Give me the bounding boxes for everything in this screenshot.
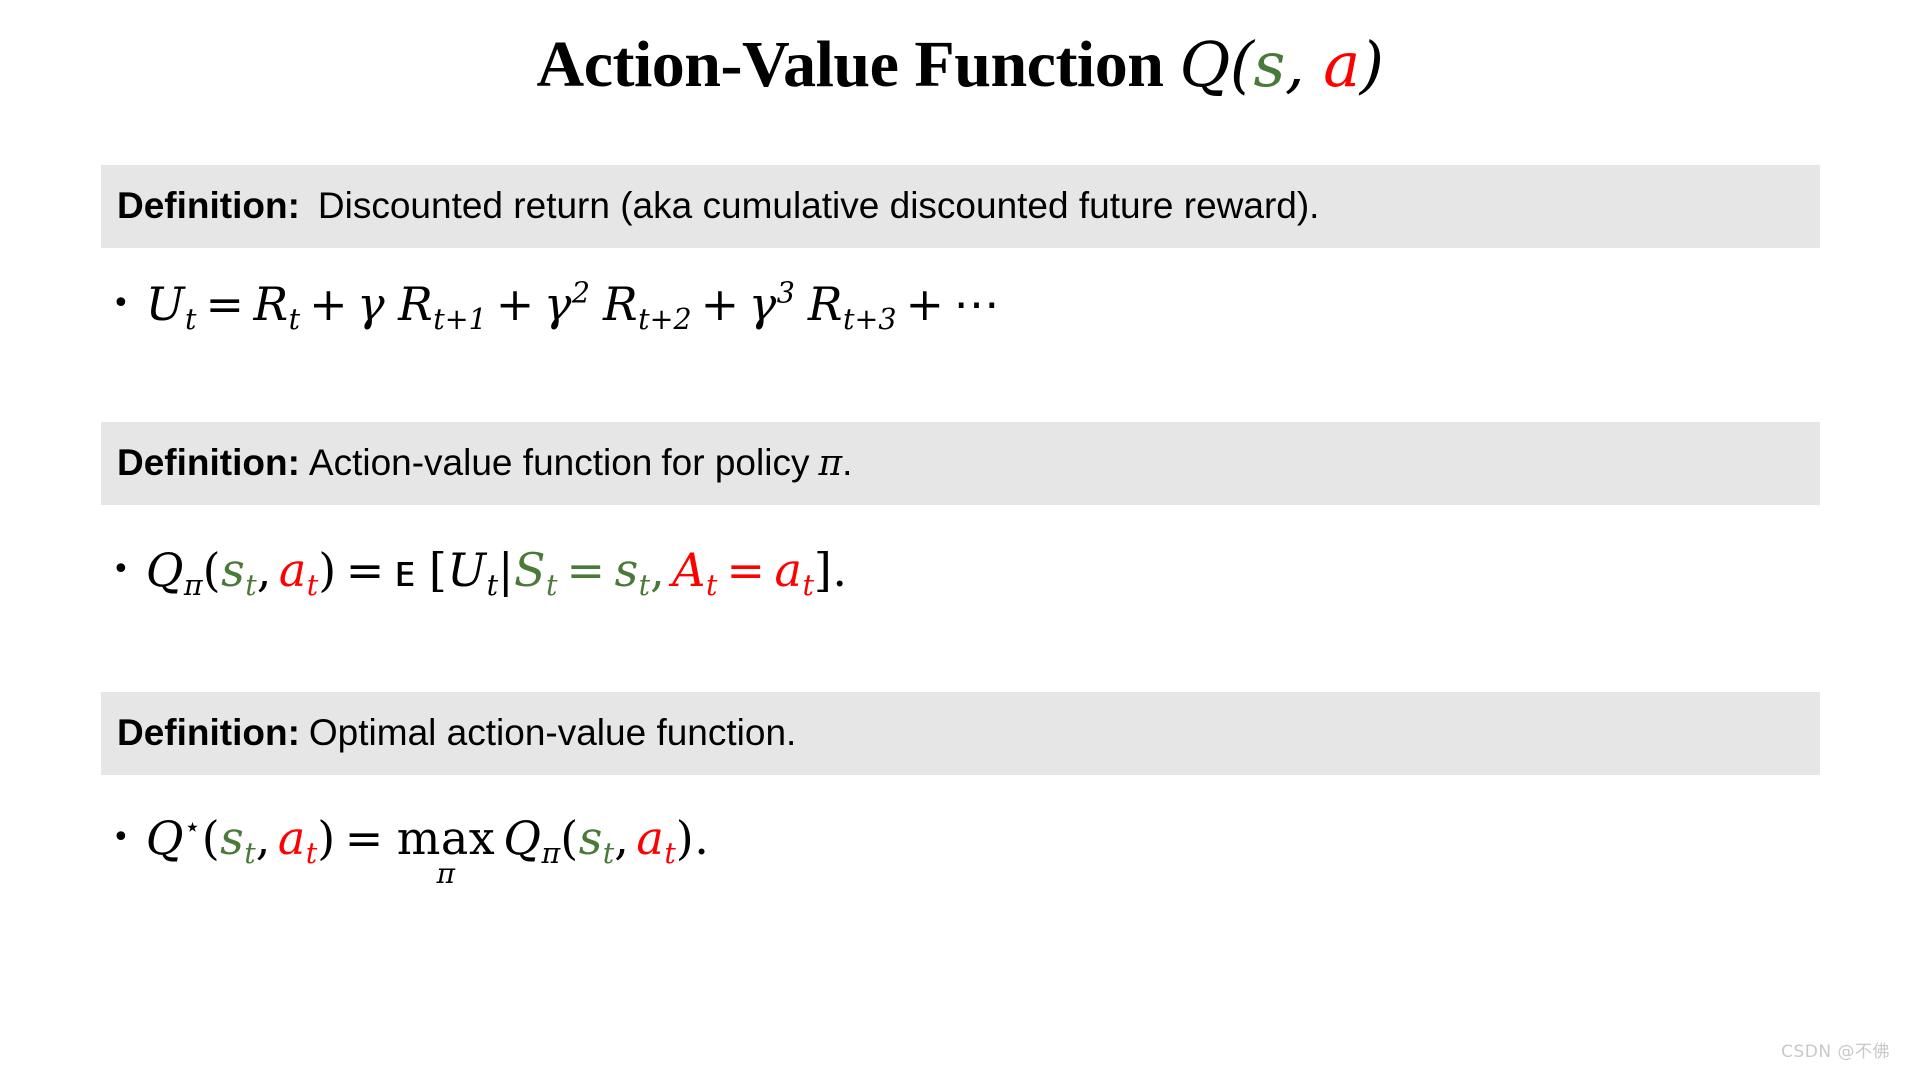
- period: .: [832, 543, 847, 597]
- ellipsis-icon: ⋯: [954, 277, 1001, 331]
- page-title-text: Action-Value Function: [537, 28, 1164, 101]
- symbol-Q: Q: [503, 811, 541, 865]
- symbol-gamma: γ: [357, 277, 385, 331]
- paren-close: ): [317, 811, 335, 865]
- symbol-U: U: [146, 277, 185, 331]
- symbol-action: a: [279, 543, 307, 597]
- operator-equals: =: [717, 543, 774, 597]
- symbol-state: s: [220, 811, 244, 865]
- bracket-close: ]: [814, 543, 832, 597]
- symbol-R: R: [254, 277, 289, 331]
- formula-optimal-action-value-function: • Q⋆(st,at)=maxπQπ(st,at).: [112, 812, 709, 888]
- bullet-icon: •: [112, 278, 130, 330]
- formula-action-value-function: • Qπ(st,at)=ᴇ[Ut|St=st,At=at].: [112, 544, 848, 598]
- operator-plus: +: [692, 277, 749, 331]
- symbol-gamma: γ: [749, 277, 777, 331]
- operator-plus: +: [896, 277, 953, 331]
- symbol-U: U: [447, 543, 486, 597]
- formula-action-value-function-body: Qπ(st,at)=ᴇ[Ut|St=st,At=at].: [146, 544, 848, 598]
- period: .: [694, 811, 709, 865]
- definition-symbol-pi: π: [818, 444, 842, 484]
- subscript-t-plus-1: t+1: [433, 303, 487, 336]
- title-paren-open: (: [1230, 28, 1254, 101]
- title-symbol-state: s: [1254, 28, 1285, 101]
- definition-emphasis: Optimal action-value function: [309, 713, 786, 754]
- definition-text: for policy: [661, 443, 809, 484]
- symbol-state: s: [579, 811, 603, 865]
- subscript-t-plus-3: t+3: [843, 303, 897, 336]
- symbol-expectation: ᴇ: [394, 546, 416, 597]
- subscript-t: t: [639, 569, 650, 602]
- definition-period: .: [842, 443, 852, 484]
- paren-close: ): [318, 543, 336, 597]
- symbol-action-random-var: A: [672, 543, 706, 597]
- symbol-Q: Q: [146, 811, 184, 865]
- operator-equals: =: [196, 277, 253, 331]
- operator-plus: +: [487, 277, 544, 331]
- definition-banner-optimal-action-value-function: Definition: Optimal action-value functio…: [101, 692, 1820, 775]
- bullet-icon: •: [112, 544, 130, 596]
- subscript-t: t: [487, 569, 498, 602]
- subscript-pi: π: [184, 569, 203, 602]
- comma: ,: [614, 811, 629, 865]
- symbol-action: a: [278, 811, 306, 865]
- subscript-t: t: [546, 569, 557, 602]
- subscript-pi: π: [541, 837, 560, 870]
- title-symbol-action: a: [1323, 28, 1359, 101]
- symbol-action: a: [775, 543, 803, 597]
- symbol-R: R: [398, 277, 433, 331]
- subscript-t-plus-2: t+2: [638, 303, 692, 336]
- formula-discounted-return-body: Ut=Rt+γRt+1+γ2Rt+2+γ3Rt+3+⋯: [146, 278, 1000, 330]
- subscript-t: t: [802, 569, 813, 602]
- title-comma: ,: [1285, 28, 1304, 101]
- definition-period: .: [786, 713, 796, 754]
- formula-optimal-action-value-function-body: Q⋆(st,at)=maxπQπ(st,at).: [146, 812, 710, 888]
- definition-emphasis: Action-value function: [309, 443, 652, 484]
- bracket-open: [: [429, 543, 447, 597]
- operator-equals: =: [558, 543, 615, 597]
- title-symbol-Q: Q: [1179, 28, 1229, 101]
- bullet-icon: •: [112, 812, 130, 864]
- paren-open: (: [203, 543, 221, 597]
- symbol-action: a: [636, 811, 664, 865]
- definition-banner-discounted-return: Definition: Discounted return (aka cumul…: [101, 165, 1820, 248]
- operator-equals: =: [336, 811, 393, 865]
- definition-label: Definition:: [117, 713, 300, 754]
- symbol-state: s: [615, 543, 639, 597]
- paren-open: (: [560, 811, 578, 865]
- formula-discounted-return: • Ut=Rt+γRt+1+γ2Rt+2+γ3Rt+3+⋯: [112, 278, 1000, 330]
- subscript-t: t: [603, 837, 614, 870]
- subscript-t: t: [664, 837, 675, 870]
- symbol-state-random-var: S: [514, 543, 546, 597]
- symbol-R: R: [808, 277, 843, 331]
- definition-text: Discounted return (aka cumulative discou…: [318, 186, 1320, 227]
- operator-plus: +: [300, 277, 357, 331]
- symbol-gamma: γ: [544, 277, 572, 331]
- symbol-Q: Q: [146, 543, 184, 597]
- definition-label: Definition:: [117, 186, 300, 227]
- subscript-t: t: [307, 569, 318, 602]
- definition-banner-action-value-function: Definition: Action-value function for po…: [101, 422, 1820, 505]
- conditional-bar: |: [498, 543, 514, 597]
- operator-max: maxπ: [397, 812, 496, 888]
- exponent-2: 2: [572, 276, 590, 309]
- subscript-t: t: [289, 303, 300, 336]
- symbol-state: s: [221, 543, 245, 597]
- subscript-t: t: [244, 837, 255, 870]
- paren-open: (: [202, 811, 220, 865]
- subscript-t: t: [245, 569, 256, 602]
- watermark: CSDN @不佛: [1781, 1037, 1890, 1062]
- operator-equals: =: [337, 543, 394, 597]
- symbol-R: R: [603, 277, 638, 331]
- comma: ,: [650, 543, 665, 597]
- comma: ,: [256, 811, 271, 865]
- page-title-formula: Q(s, a): [1179, 28, 1383, 101]
- title-paren-close: ): [1360, 28, 1384, 101]
- definition-label: Definition:: [117, 443, 300, 484]
- subscript-t: t: [306, 837, 317, 870]
- paren-close: ): [676, 811, 694, 865]
- star-icon: ⋆: [184, 810, 202, 843]
- subscript-t: t: [706, 569, 717, 602]
- exponent-3: 3: [777, 276, 795, 309]
- comma: ,: [257, 543, 272, 597]
- operator-max-subscript-pi: π: [437, 860, 456, 888]
- subscript-t: t: [185, 303, 196, 336]
- page-title: Action-Value Function Q(s, a): [0, 22, 1920, 108]
